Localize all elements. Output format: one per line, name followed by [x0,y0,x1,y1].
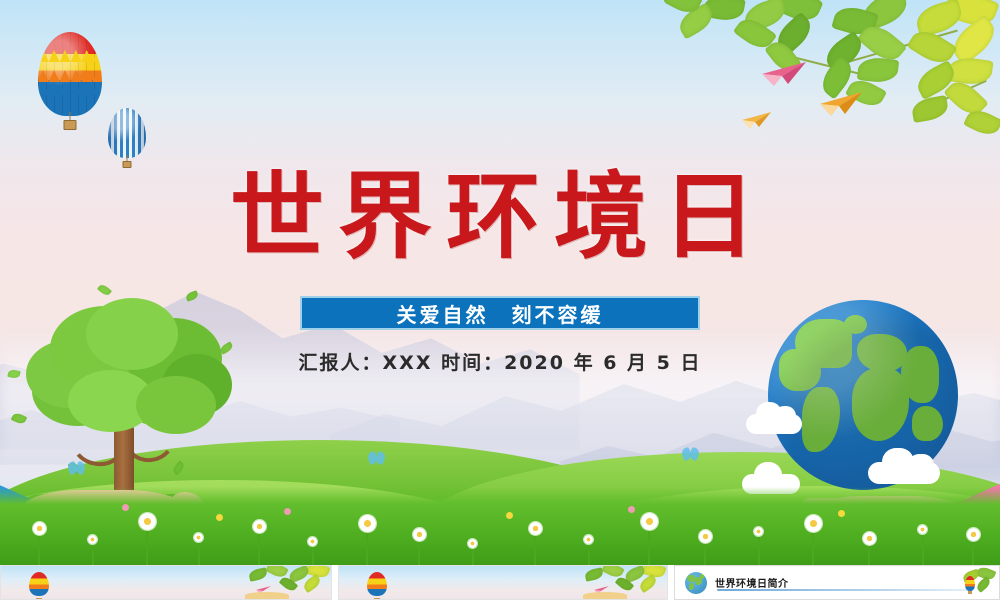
subtitle-banner-label: 关爱自然 刻不容缓 [397,299,604,328]
butterfly-icon [682,448,700,462]
thumb-balloon-icon [29,572,49,600]
hot-air-balloon-large-icon [38,32,102,132]
title-slide[interactable]: 世界环境日 关爱自然 刻不容缓 汇报人：XXX 时间：2020 年 6 月 5 … [0,0,1000,565]
butterfly-icon [368,452,386,466]
thumb-foliage-icon [572,566,667,592]
presentation-viewer: 世界环境日 关爱自然 刻不容缓 汇报人：XXX 时间：2020 年 6 月 5 … [0,0,1000,600]
hot-air-balloon-small-icon [108,108,146,168]
paper-plane-orange-small-icon [742,112,772,135]
thumb-globe-icon [685,572,707,594]
daisy-field [0,487,1000,565]
thumb-3-decoration [953,568,995,598]
slide-thumbnail-2[interactable] [338,565,668,600]
paper-plane-pink-icon [762,62,808,93]
foliage-branch-icon [670,0,1000,150]
page-title: 世界环境日 [0,168,1000,268]
thumb-foliage-icon [236,566,331,592]
subtitle-banner: 关爱自然 刻不容缓 [300,296,700,330]
presenter-date-line: 汇报人：XXX 时间：2020 年 6 月 5 日 [0,348,1000,375]
slide-thumbnail-3[interactable]: 世界环境日简介 [674,565,1000,600]
slide-thumbnail-strip[interactable]: 世界环境日简介 [0,565,1000,600]
butterfly-icon [68,462,86,476]
thumb-3-title: 世界环境日简介 [715,575,789,590]
slide-thumbnail-1[interactable] [0,565,332,600]
thumb-3-underline [717,589,967,591]
thumb-balloon-icon [367,572,387,600]
paper-plane-orange-icon [820,92,864,123]
